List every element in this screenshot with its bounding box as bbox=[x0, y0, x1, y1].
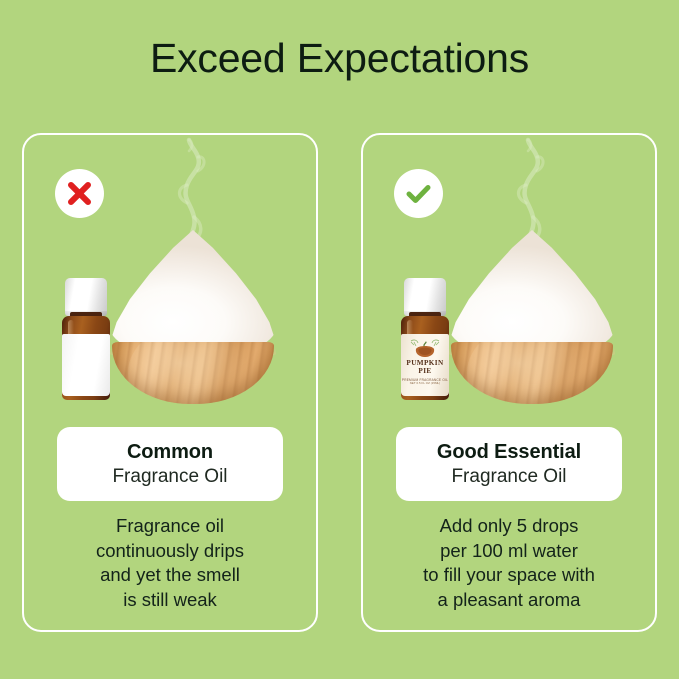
panel-good-essential: PUMPKIN PIE PREMIUM FRAGRANCE OIL NET 0.… bbox=[361, 133, 657, 632]
diffuser-wood-base bbox=[451, 342, 613, 404]
pumpkin-illustration-icon bbox=[405, 337, 445, 359]
oil-bottle-good-essential: PUMPKIN PIE PREMIUM FRAGRANCE OIL NET 0.… bbox=[401, 278, 449, 400]
product-kind: Fragrance Oil bbox=[112, 465, 227, 489]
product-scene-common bbox=[24, 135, 316, 415]
diffuser-foot-left bbox=[469, 401, 485, 404]
bottle-label-blank bbox=[62, 334, 110, 396]
diffuser-device bbox=[449, 230, 615, 400]
panel-description-good-essential: Add only 5 drops per 100 ml water to fil… bbox=[375, 514, 643, 612]
bottle-cap bbox=[404, 278, 446, 316]
product-brand: Common bbox=[127, 440, 213, 465]
product-scene-good-essential: PUMPKIN PIE PREMIUM FRAGRANCE OIL NET 0.… bbox=[363, 135, 655, 415]
product-brand: Good Essential bbox=[437, 440, 581, 465]
product-kind: Fragrance Oil bbox=[451, 465, 566, 489]
diffuser-wood-base bbox=[112, 342, 274, 404]
description-line: per 100 ml water bbox=[375, 539, 643, 564]
label-title-line-1: PUMPKIN bbox=[406, 359, 443, 367]
bottle-label-pumpkin-pie: PUMPKIN PIE PREMIUM FRAGRANCE OIL NET 0.… bbox=[401, 334, 449, 396]
diffuser-device bbox=[110, 230, 276, 400]
panel-description-common: Fragrance oil continuously drips and yet… bbox=[36, 514, 304, 612]
diffuser-foot-left bbox=[130, 401, 146, 404]
description-line: is still weak bbox=[36, 588, 304, 613]
description-line: a pleasant aroma bbox=[375, 588, 643, 613]
oil-bottle-common bbox=[62, 278, 110, 400]
diffuser-foot-right bbox=[240, 401, 256, 404]
description-line: continuously drips bbox=[36, 539, 304, 564]
product-name-card-good-essential: Good Essential Fragrance Oil bbox=[396, 427, 622, 501]
diffuser-foot-right bbox=[579, 401, 595, 404]
page-title: Exceed Expectations bbox=[0, 34, 679, 83]
comparison-infographic: Exceed Expectations bbox=[0, 0, 679, 679]
label-title-line-2: PIE bbox=[418, 367, 431, 375]
description-line: Fragrance oil bbox=[36, 514, 304, 539]
description-line: and yet the smell bbox=[36, 563, 304, 588]
diffuser-cone bbox=[110, 230, 276, 358]
description-line: to fill your space with bbox=[375, 563, 643, 588]
diffuser-cone bbox=[449, 230, 615, 358]
product-name-card-common: Common Fragrance Oil bbox=[57, 427, 283, 501]
label-net-volume: NET 0.5 FL OZ (15ML) bbox=[410, 382, 440, 386]
panel-common: Common Fragrance Oil Fragrance oil conti… bbox=[22, 133, 318, 632]
description-line: Add only 5 drops bbox=[375, 514, 643, 539]
bottle-cap bbox=[65, 278, 107, 316]
